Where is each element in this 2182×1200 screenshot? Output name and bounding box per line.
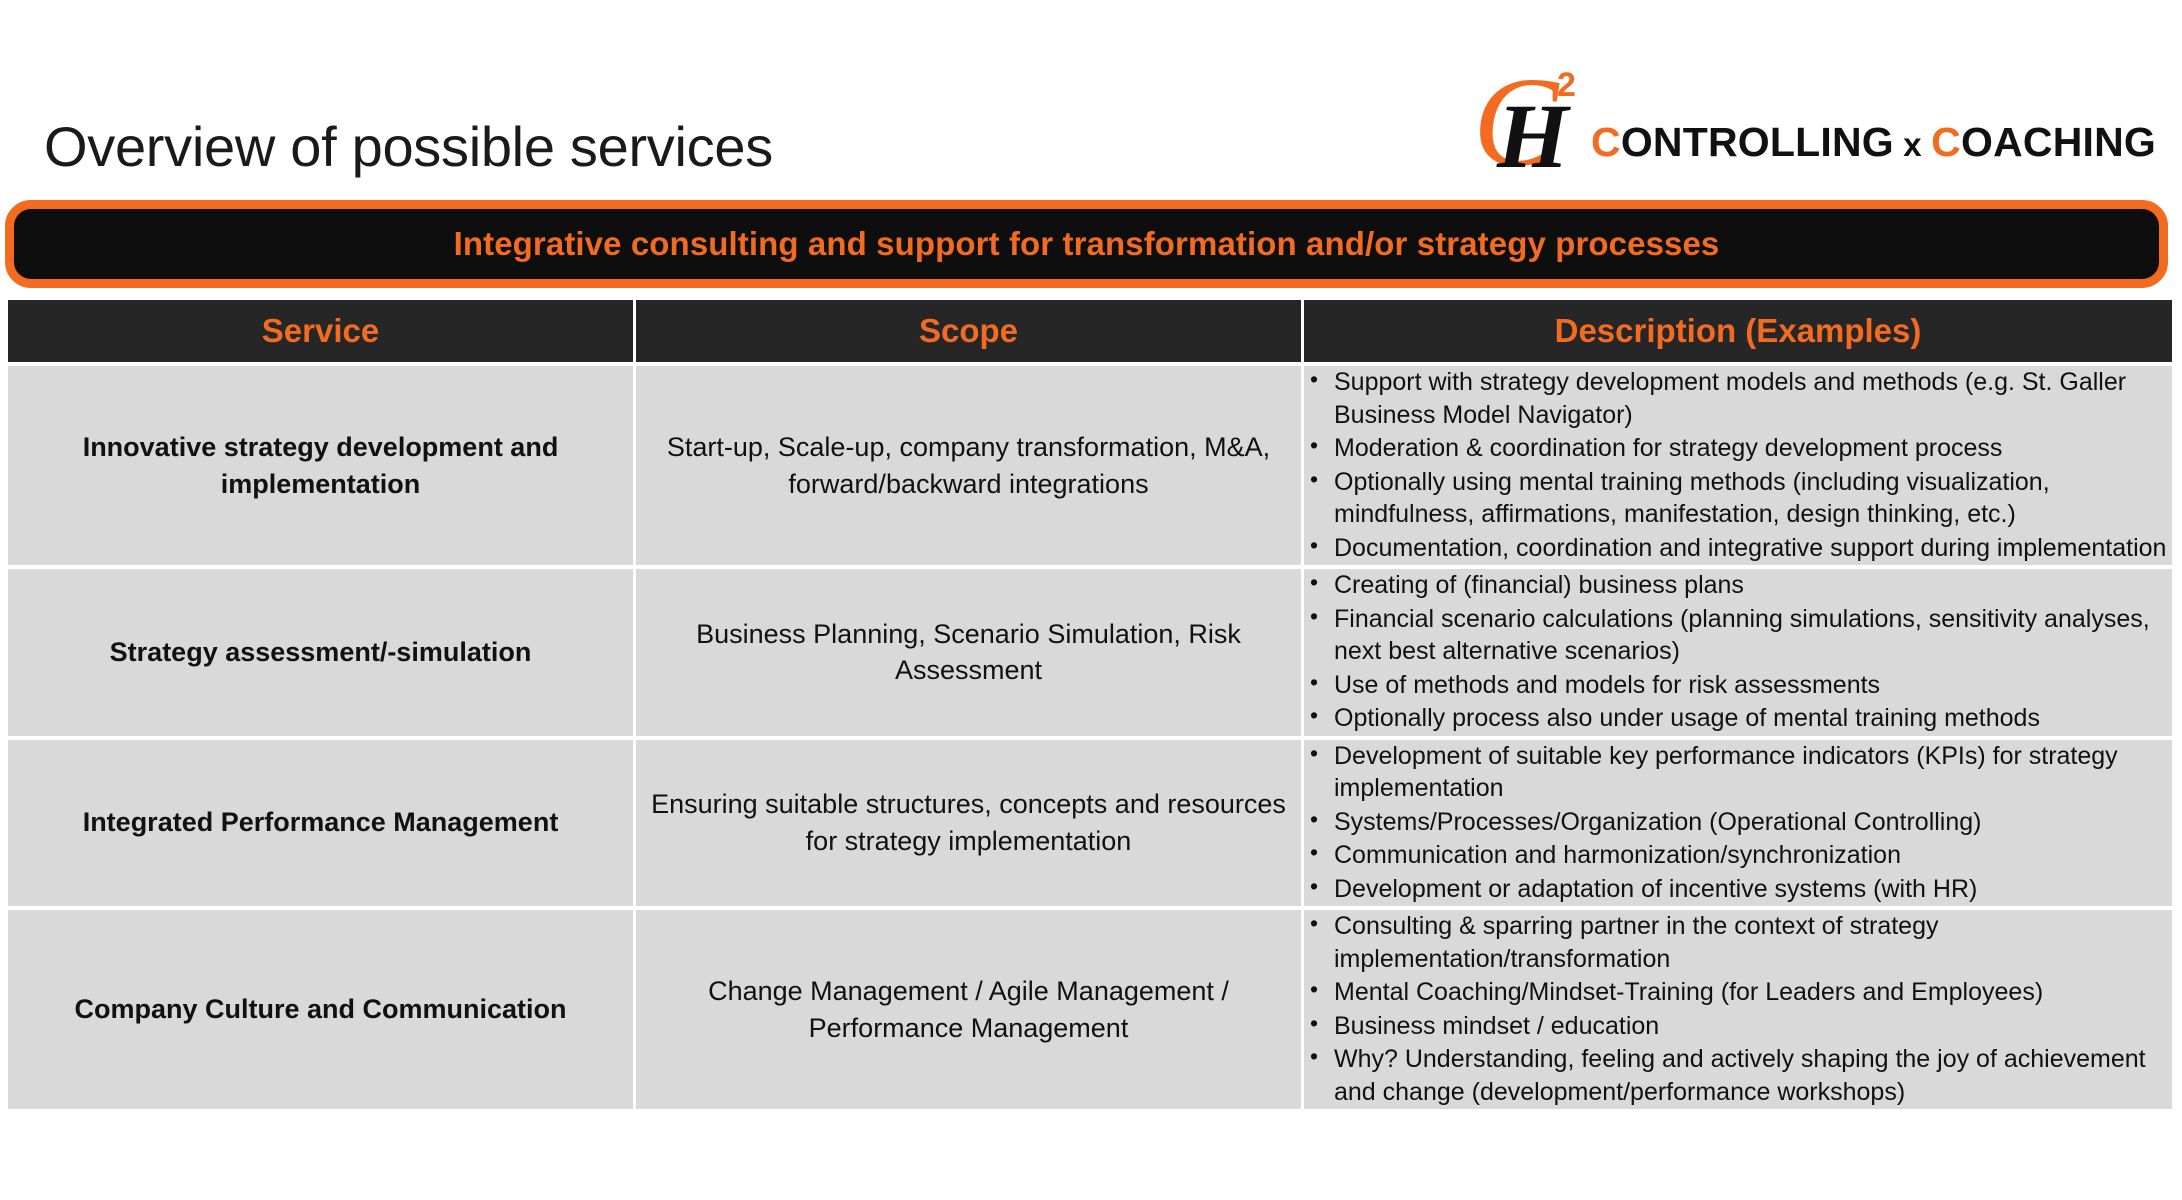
table-row: Innovative strategy development and impl… — [8, 362, 2172, 569]
cell-service: Integrated Performance Management — [8, 740, 636, 911]
list-item: Business mindset / education — [1304, 1010, 2172, 1043]
list-item: Development of suitable key performance … — [1304, 740, 2172, 805]
table-row: Company Culture and Communication Change… — [8, 910, 2172, 1113]
list-item: Consulting & sparring partner in the con… — [1304, 910, 2172, 975]
cell-service: Strategy assessment/-simulation — [8, 569, 636, 740]
column-header-service: Service — [8, 300, 636, 362]
logo-wordmark-controlling: ONTROLLING — [1621, 119, 1894, 165]
list-item: Financial scenario calculations (plannin… — [1304, 603, 2172, 668]
description-bullet-list: Development of suitable key performance … — [1304, 740, 2172, 906]
logo-superscript-two: 2 — [1557, 68, 1576, 102]
cell-description: Consulting & sparring partner in the con… — [1304, 910, 2172, 1113]
list-item: Documentation, coordination and integrat… — [1304, 532, 2172, 565]
logo-wordmark-coaching: OACHING — [1961, 119, 2156, 165]
cell-description: Development of suitable key performance … — [1304, 740, 2172, 911]
headline-banner: Integrative consulting and support for t… — [5, 200, 2168, 288]
logo-wordmark: CONTROLLING x COACHING — [1591, 119, 2156, 172]
headline-banner-text: Integrative consulting and support for t… — [454, 225, 1720, 263]
description-bullet-list: Support with strategy development models… — [1304, 366, 2172, 564]
list-item: Mental Coaching/Mindset-Training (for Le… — [1304, 976, 2172, 1009]
logo-wordmark-x: x — [1894, 126, 1931, 163]
list-item: Development or adaptation of incentive s… — [1304, 873, 2172, 906]
list-item: Communication and harmonization/synchron… — [1304, 839, 2172, 872]
list-item: Use of methods and models for risk asses… — [1304, 669, 2172, 702]
services-table-body: Innovative strategy development and impl… — [8, 362, 2172, 1113]
cell-scope: Start-up, Scale-up, company transformati… — [636, 362, 1304, 569]
column-header-scope: Scope — [636, 300, 1304, 362]
logo-mark: C H 2 — [1473, 64, 1601, 172]
list-item: Optionally process also under usage of m… — [1304, 702, 2172, 735]
company-logo: C H 2 CONTROLLING x COACHING — [1473, 62, 2156, 172]
table-row: Integrated Performance Management Ensuri… — [8, 740, 2172, 911]
cell-scope: Change Management / Agile Management / P… — [636, 910, 1304, 1113]
slide-header: Overview of possible services C H 2 CONT… — [0, 0, 2182, 196]
column-header-description: Description (Examples) — [1304, 300, 2172, 362]
page-title: Overview of possible services — [44, 114, 773, 179]
cell-scope: Ensuring suitable structures, concepts a… — [636, 740, 1304, 911]
services-table: Service Scope Description (Examples) Inn… — [8, 300, 2172, 1113]
cell-description: Support with strategy development models… — [1304, 362, 2172, 569]
cell-service: Innovative strategy development and impl… — [8, 362, 636, 569]
list-item: Optionally using mental training methods… — [1304, 466, 2172, 531]
description-bullet-list: Consulting & sparring partner in the con… — [1304, 910, 2172, 1108]
description-bullet-list: Creating of (financial) business plans F… — [1304, 569, 2172, 735]
table-header-row: Service Scope Description (Examples) — [8, 300, 2172, 362]
list-item: Creating of (financial) business plans — [1304, 569, 2172, 602]
list-item: Why? Understanding, feeling and actively… — [1304, 1043, 2172, 1108]
list-item: Support with strategy development models… — [1304, 366, 2172, 431]
list-item: Systems/Processes/Organization (Operatio… — [1304, 806, 2172, 839]
table-row: Strategy assessment/-simulation Business… — [8, 569, 2172, 740]
cell-scope: Business Planning, Scenario Simulation, … — [636, 569, 1304, 740]
services-table-head: Service Scope Description (Examples) — [8, 300, 2172, 362]
cell-description: Creating of (financial) business plans F… — [1304, 569, 2172, 740]
cell-service: Company Culture and Communication — [8, 910, 636, 1113]
logo-wordmark-c2: C — [1931, 119, 1961, 165]
list-item: Moderation & coordination for strategy d… — [1304, 432, 2172, 465]
